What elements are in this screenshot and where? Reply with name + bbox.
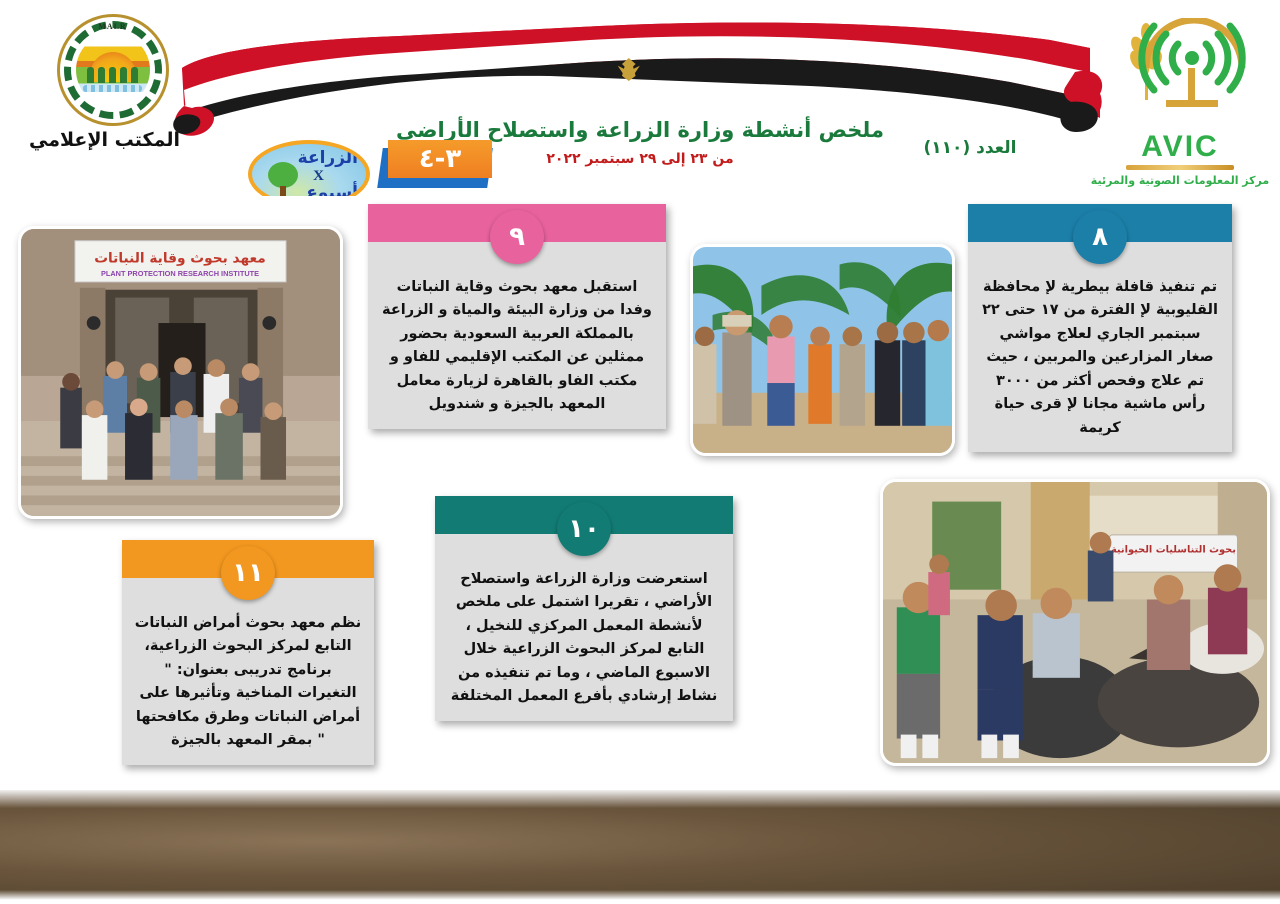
content-board: معهد بحوث وقاية النباتات PLANT PROTECTIO… <box>0 196 1280 790</box>
svg-text:بحوث التناسليات الحيوانية: بحوث التناسليات الحيوانية <box>1111 545 1236 556</box>
page-title: ملخص أنشطة وزارة الزراعة واستصلاح الأراض… <box>0 118 1280 142</box>
card-10-header: ١٠ <box>435 496 733 534</box>
malr-seal-icon: MALR <box>57 14 169 126</box>
page-header: MALR المكتب الإعلامي <box>0 0 1280 200</box>
news-card-11: ١١ نظم معهد بحوث أمراض النباتات التابع ل… <box>122 540 374 765</box>
news-card-10: ١٠ استعرضت وزارة الزراعة واستصلاح الأراض… <box>435 496 733 721</box>
water-icon <box>83 85 142 92</box>
card-11-badge: ١١ <box>221 546 275 600</box>
issue-tag: ٣-٤ <box>380 140 490 188</box>
page-footer: /Agr.Avic1 /Agr.Avic1 <box>0 790 1280 904</box>
week-badge-line1: الزراعة <box>298 148 358 168</box>
issue-tag-front: ٣-٤ <box>388 140 492 178</box>
card-9-number: ٩ <box>509 222 525 252</box>
photo-palm-field-group <box>690 244 955 456</box>
malr-emblem-field <box>76 33 150 107</box>
issue-number: العدد (١١٠) <box>880 138 1060 158</box>
card-11-number: ١١ <box>232 558 264 588</box>
avic-subtitle: مركز المعلومات الصوتية والمرئية <box>1090 174 1270 187</box>
footer-background <box>0 790 1280 904</box>
malr-acronym: MALR <box>60 22 166 31</box>
photo-veterinary-caravan: بحوث التناسليات الحيوانية <box>880 479 1270 766</box>
infographic-page: MALR المكتب الإعلامي <box>0 0 1280 904</box>
avic-mark-icon <box>1100 18 1260 138</box>
card-10-number: ١٠ <box>568 514 600 544</box>
news-card-9: ٩ استقبل معهد بحوث وقاية النباتات وفدا م… <box>368 204 666 429</box>
card-8-text: تم تنفيذ قافلة بيطرية ﻹ محافظة القليوبية… <box>968 242 1232 452</box>
card-11-header: ١١ <box>122 540 374 578</box>
svg-text:PLANT PROTECTION RESEARCH INST: PLANT PROTECTION RESEARCH INSTITUTE <box>101 269 259 278</box>
card-11-text: نظم معهد بحوث أمراض النباتات التابع لمرك… <box>122 578 374 765</box>
card-8-number: ٨ <box>1092 222 1108 252</box>
card-8-header: ٨ <box>968 204 1232 242</box>
plants-icon <box>76 67 150 83</box>
date-range: من ٢٣ إلى ٢٩ سبتمبر ٢٠٢٢ <box>0 151 1280 167</box>
egypt-flag-ribbon-icon <box>170 6 1110 136</box>
card-9-header: ٩ <box>368 204 666 242</box>
card-10-text: استعرضت وزارة الزراعة واستصلاح الأراضي ،… <box>435 534 733 721</box>
issue-tag-label: ٣-٤ <box>419 144 462 174</box>
card-8-badge: ٨ <box>1073 210 1127 264</box>
card-9-badge: ٩ <box>490 210 544 264</box>
photo-plant-protection-institute: معهد بحوث وقاية النباتات PLANT PROTECTIO… <box>18 226 343 519</box>
svg-text:معهد بحوث وقاية النباتات: معهد بحوث وقاية النباتات <box>94 250 266 266</box>
news-card-8: ٨ تم تنفيذ قافلة بيطرية ﻹ محافظة القليوب… <box>968 204 1232 452</box>
card-9-text: استقبل معهد بحوث وقاية النباتات وفدا من … <box>368 242 666 429</box>
avic-logo: AVIC مركز المعلومات الصوتية والمرئية <box>1090 18 1270 187</box>
card-10-badge: ١٠ <box>557 502 611 556</box>
avic-underline <box>1126 165 1234 170</box>
